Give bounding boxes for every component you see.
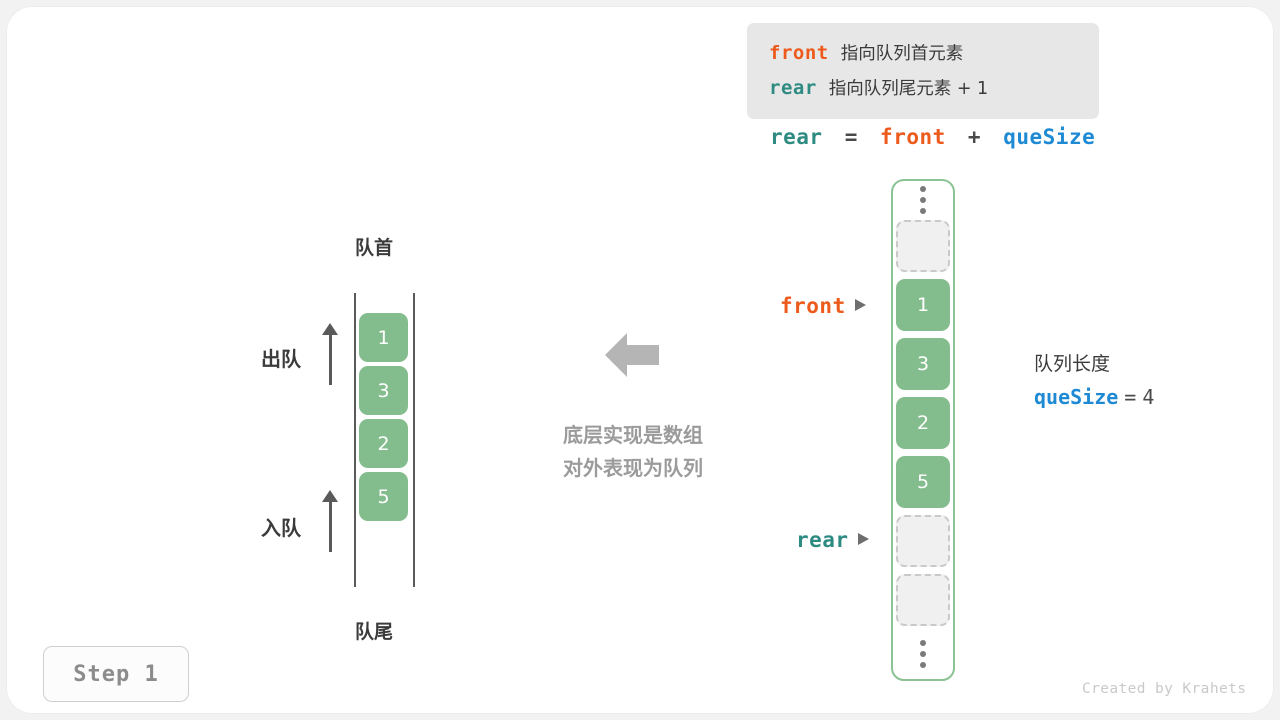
front-pointer-arrow-icon [855,299,866,311]
queue-head-label: 队首 [355,233,393,260]
formula-lhs: rear [770,125,823,149]
center-note-line2: 对外表现为队列 [537,452,729,485]
queue-size-info: 队列长度 queSize=4 [1034,349,1154,415]
array-cell-filled: 2 [896,397,950,449]
front-pointer: front [780,294,866,318]
queue-cell: 2 [359,419,408,468]
step-badge: Step 1 [43,646,189,702]
enqueue-arrow-up-icon [320,490,340,552]
rear-pointer-arrow-icon [858,533,869,545]
legend-desc-rear: 指向队列尾元素 + 1 [829,79,988,99]
array-cell-empty [896,574,950,626]
left-arrow-icon [603,327,661,383]
quesize-value: 4 [1142,385,1154,409]
credit-text: Created by Krahets [1082,681,1246,697]
dequeue-label: 出队 [261,343,301,372]
legend-row-front: front指向队列首元素 [769,36,1099,71]
legend-keyword-rear: rear [769,77,817,99]
legend-desc-front: 指向队列首元素 [841,44,964,64]
quesize-equals: = [1124,385,1136,409]
legend-keyword-front: front [769,42,829,64]
formula-plus: + [968,125,981,149]
center-note: 底层实现是数组 对外表现为队列 [537,419,729,485]
queue-cell: 1 [359,313,408,362]
queue-tail-label: 队尾 [355,617,393,644]
queue-size-title: 队列长度 [1034,349,1154,379]
vertical-ellipsis-icon-top [915,186,931,214]
rear-pointer-label: rear [796,528,849,552]
array-cell-empty [896,220,950,272]
rear-pointer: rear [796,528,869,552]
vertical-ellipsis-icon-bottom [915,640,931,668]
enqueue-label: 入队 [261,512,301,541]
queue-cell: 3 [359,366,408,415]
dequeue-arrow-up-icon [320,323,340,385]
queue-cell: 5 [359,472,408,521]
formula-equals: = [845,125,858,149]
formula-rhs2: queSize [1003,125,1095,149]
array-cell-filled: 1 [896,279,950,331]
queue-rail-right [413,293,415,587]
array-cell-empty [896,515,950,567]
formula-rear-equals-front-plus-quesize: rear = front + queSize [769,125,1096,149]
array-cell-filled: 5 [896,456,950,508]
front-pointer-label: front [780,294,846,318]
center-note-line1: 底层实现是数组 [537,419,729,452]
quesize-var: queSize [1034,385,1118,409]
diagram-canvas: front指向队列首元素 rear指向队列尾元素 + 1 rear = fron… [6,6,1274,714]
formula-rhs1: front [880,125,946,149]
legend-box: front指向队列首元素 rear指向队列尾元素 + 1 [747,23,1099,119]
legend-row-rear: rear指向队列尾元素 + 1 [769,71,1099,106]
queue-size-expression: queSize=4 [1034,379,1154,415]
array-cell-filled: 3 [896,338,950,390]
queue-rail-left [354,293,356,587]
